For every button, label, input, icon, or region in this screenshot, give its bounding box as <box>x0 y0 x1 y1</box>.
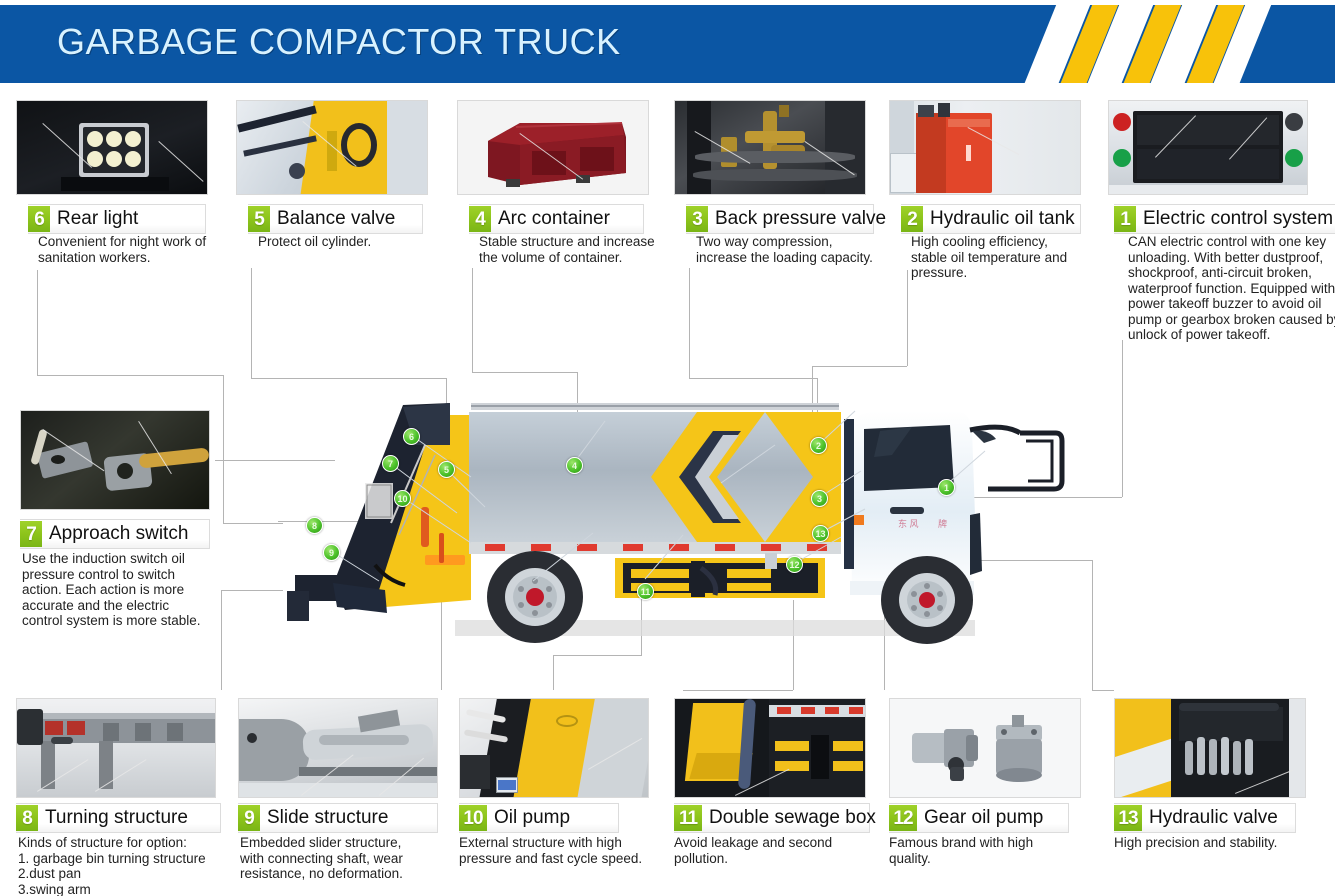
feature-header-10: 10 Oil pump <box>459 803 619 833</box>
gear-oil-pump-photo <box>889 698 1081 798</box>
feature-header-1: 1 Electric control system <box>1114 204 1335 234</box>
badge-9: 9 <box>238 805 260 831</box>
feature-desc-9: Embedded slider structure, with connecti… <box>240 835 445 882</box>
back-pressure-valve-photo <box>674 100 866 195</box>
feature-desc-8: Kinds of structure for option: 1. garbag… <box>18 835 228 896</box>
truck-marker-3[interactable]: 3 <box>811 490 828 507</box>
feature-header-4: 4 Arc container <box>469 204 644 234</box>
page-header: GARBAGE COMPACTOR TRUCK <box>0 5 1335 83</box>
truck-marker-8[interactable]: 8 <box>306 517 323 534</box>
feature-header-11: 11 Double sewage box <box>674 803 870 833</box>
feature-desc-2: High cooling efficiency, stable oil temp… <box>911 234 1101 281</box>
arc-container-photo <box>457 100 649 195</box>
feature-header-12: 12 Gear oil pump <box>889 803 1069 833</box>
feature-desc-12: Famous brand with high quality. <box>889 835 1079 866</box>
truck-marker-2[interactable]: 2 <box>810 437 827 454</box>
truck-illustration: 东 风 牌 <box>275 385 1075 660</box>
feature-header-6: 6 Rear light <box>28 204 206 234</box>
truck-marker-12[interactable]: 12 <box>786 556 803 573</box>
badge-1: 1 <box>1114 206 1136 232</box>
badge-13: 13 <box>1114 805 1142 831</box>
feature-header-7: 7 Approach switch <box>20 519 210 549</box>
feature-title-13: Hydraulic valve <box>1149 807 1278 829</box>
hydraulic-valve-photo <box>1114 698 1306 798</box>
feature-desc-3: Two way compression, increase the loadin… <box>696 234 901 265</box>
truck-marker-11[interactable]: 11 <box>637 583 654 600</box>
approach-switch-photo <box>20 410 210 510</box>
feature-desc-7: Use the induction switch oil pressure co… <box>22 551 222 629</box>
feature-title-7: Approach switch <box>49 523 188 545</box>
truck-marker-9[interactable]: 9 <box>323 544 340 561</box>
leader-hairlines <box>275 385 1075 660</box>
oil-pump-photo <box>459 698 649 798</box>
feature-header-9: 9 Slide structure <box>238 803 438 833</box>
feature-header-13: 13 Hydraulic valve <box>1114 803 1296 833</box>
feature-desc-6: Convenient for night work of sanitation … <box>38 234 233 265</box>
feature-title-6: Rear light <box>57 208 138 230</box>
feature-header-8: 8 Turning structure <box>16 803 221 833</box>
turning-structure-photo <box>16 698 216 798</box>
feature-header-5: 5 Balance valve <box>248 204 423 234</box>
electric-control-system-photo <box>1108 100 1308 195</box>
badge-12: 12 <box>889 805 917 831</box>
feature-title-12: Gear oil pump <box>924 807 1043 829</box>
feature-title-11: Double sewage box <box>709 807 876 829</box>
badge-2: 2 <box>901 206 923 232</box>
page-root: GARBAGE COMPACTOR TRUCK <box>0 0 1335 896</box>
feature-header-2: 2 Hydraulic oil tank <box>901 204 1081 234</box>
feature-title-4: Arc container <box>498 208 610 230</box>
header-stripe-decoration <box>1000 5 1335 83</box>
truck-marker-13[interactable]: 13 <box>812 525 829 542</box>
balance-valve-photo <box>236 100 428 195</box>
badge-11: 11 <box>674 805 702 831</box>
badge-7: 7 <box>20 521 42 547</box>
hydraulic-oil-tank-photo <box>889 100 1081 195</box>
feature-desc-10: External structure with high pressure an… <box>459 835 659 866</box>
page-title: GARBAGE COMPACTOR TRUCK <box>57 21 621 63</box>
badge-4: 4 <box>469 206 491 232</box>
double-sewage-box-photo <box>674 698 866 798</box>
truck-marker-7[interactable]: 7 <box>382 455 399 472</box>
feature-desc-11: Avoid leakage and second pollution. <box>674 835 874 866</box>
truck-marker-6[interactable]: 6 <box>403 428 420 445</box>
slide-structure-photo <box>238 698 438 798</box>
badge-10: 10 <box>459 805 487 831</box>
feature-desc-13: High precision and stability. <box>1114 835 1314 851</box>
truck-marker-10[interactable]: 10 <box>394 490 411 507</box>
badge-8: 8 <box>16 805 38 831</box>
truck-marker-5[interactable]: 5 <box>438 461 455 478</box>
badge-6: 6 <box>28 206 50 232</box>
feature-desc-1: CAN electric control with one key unload… <box>1128 234 1335 343</box>
feature-title-10: Oil pump <box>494 807 570 829</box>
badge-3: 3 <box>686 206 708 232</box>
feature-title-3: Back pressure valve <box>715 208 886 230</box>
feature-header-3: 3 Back pressure valve <box>686 204 874 234</box>
truck-marker-1[interactable]: 1 <box>938 479 955 496</box>
feature-title-9: Slide structure <box>267 807 388 829</box>
badge-5: 5 <box>248 206 270 232</box>
feature-desc-4: Stable structure and increase the volume… <box>479 234 679 265</box>
feature-title-5: Balance valve <box>277 208 395 230</box>
feature-title-8: Turning structure <box>45 807 188 829</box>
feature-title-2: Hydraulic oil tank <box>930 208 1075 230</box>
rear-light-photo <box>16 100 208 195</box>
feature-title-1: Electric control system <box>1143 208 1333 230</box>
truck-marker-4[interactable]: 4 <box>566 457 583 474</box>
feature-desc-5: Protect oil cylinder. <box>258 234 448 250</box>
